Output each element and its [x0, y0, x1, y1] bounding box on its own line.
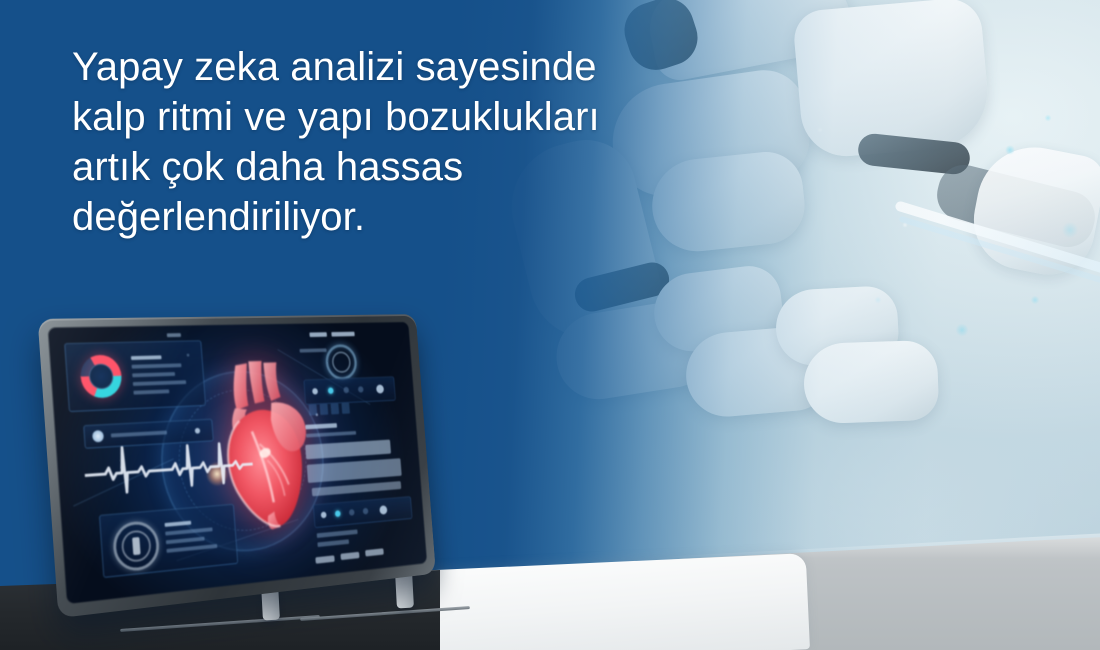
- right-footer-bar: [317, 529, 358, 537]
- metric-dot: [349, 509, 355, 516]
- metric-chip: [331, 403, 340, 414]
- gauge-text-bar: [165, 527, 212, 535]
- metric-dot-active: [335, 510, 341, 517]
- header-label-bar: [309, 332, 327, 337]
- tablet-screen[interactable]: [48, 322, 427, 604]
- headline-line-3: artık çok daha hassas: [72, 142, 712, 192]
- metric-dot: [376, 385, 384, 394]
- metric-chip: [309, 404, 318, 415]
- metric-dot: [343, 387, 349, 393]
- headline-line-2: kalp ritmi ve yapı bozuklukları: [72, 92, 712, 142]
- gauge-panel-right[interactable]: [324, 344, 358, 380]
- tablet-device[interactable]: [38, 314, 436, 618]
- metric-dot-active: [328, 387, 334, 393]
- donut-stat-panel[interactable]: [64, 340, 206, 412]
- stat-text-bar: [132, 363, 182, 368]
- metric-chip: [320, 404, 329, 415]
- panel-label: [167, 333, 181, 337]
- gauge-text-bar: [165, 521, 192, 527]
- header-label-bar: [331, 332, 354, 337]
- stat-text-bar: [132, 372, 175, 377]
- gauge-text-bar: [166, 537, 205, 544]
- metric-dot: [321, 512, 327, 519]
- headline-line-1: Yapay zeka analizi sayesinde: [72, 42, 712, 92]
- action-button[interactable]: [365, 548, 384, 556]
- stat-text-bar: [133, 380, 186, 386]
- metric-dot: [312, 388, 318, 395]
- headline: Yapay zeka analizi sayesinde kalp ritmi …: [72, 42, 712, 242]
- lock-gauge-panel[interactable]: [99, 504, 238, 578]
- banner-image: Yapay zeka analizi sayesinde kalp ritmi …: [0, 0, 1100, 650]
- white-box: [416, 553, 810, 650]
- action-button[interactable]: [315, 555, 334, 563]
- gauge-text-bar: [166, 544, 217, 553]
- right-footer-bar: [317, 539, 349, 547]
- stat-text-bar: [131, 355, 162, 360]
- right-text-block: [312, 481, 402, 496]
- metric-dot: [358, 386, 364, 392]
- metrics-dots-panel-lower[interactable]: [313, 496, 413, 528]
- headline-line-4: değerlendiriliyor.: [72, 192, 712, 242]
- donut-chart-icon: [79, 355, 123, 399]
- metric-dot: [379, 505, 387, 515]
- circular-gauge-icon: [112, 520, 161, 573]
- metrics-dots-panel[interactable]: [303, 376, 395, 405]
- right-text-bar: [305, 423, 337, 429]
- stat-text-bar: [133, 389, 169, 394]
- action-button[interactable]: [340, 552, 359, 560]
- metric-chip: [341, 403, 350, 414]
- header-sublabel-bar: [300, 348, 327, 352]
- metric-dot: [363, 508, 369, 515]
